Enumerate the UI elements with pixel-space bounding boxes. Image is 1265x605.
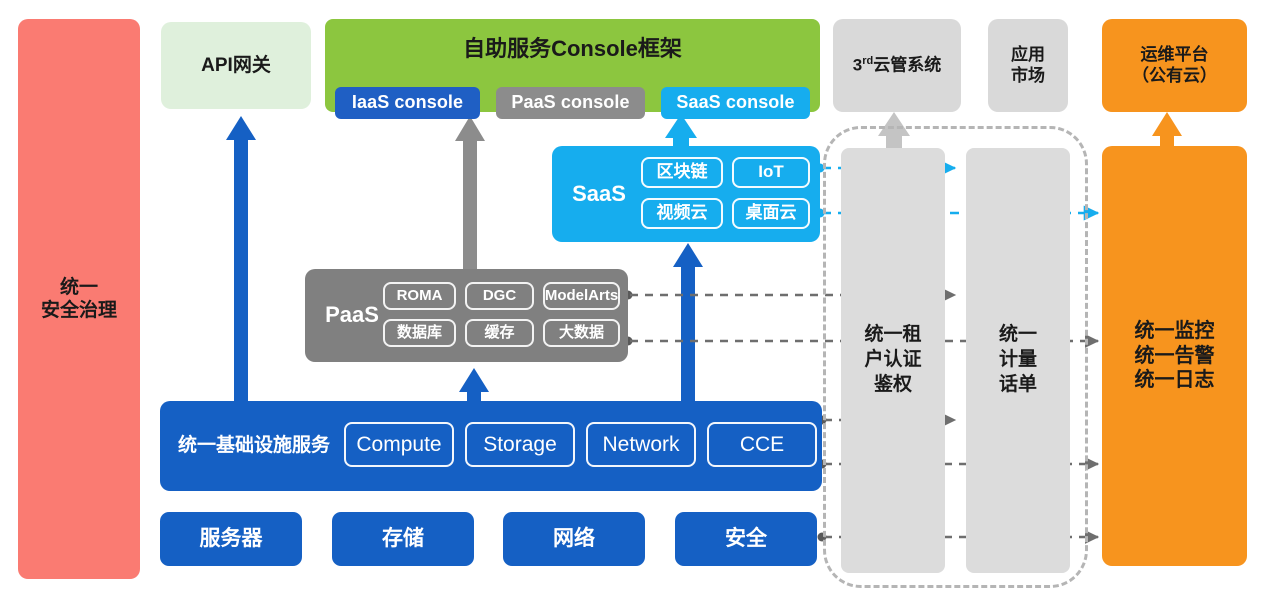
column-unified-metering-billing[interactable]: 统一 计量 话单 (966, 148, 1070, 573)
arrow-saas-to-console (665, 114, 697, 149)
saas-layer-label: SaaS (564, 146, 634, 242)
paas-item-cache[interactable]: 缓存 (465, 319, 534, 347)
paas-item-dgc[interactable]: DGC (465, 282, 534, 310)
badge-iaas-console[interactable]: IaaS console (335, 87, 480, 119)
panel-third-party-cloud-management[interactable]: 3rd云管系统 (833, 19, 961, 112)
panel-ops-platform-public-cloud[interactable]: 运维平台 （公有云） (1102, 19, 1247, 112)
infra-item-cce[interactable]: CCE (707, 422, 817, 467)
panel-api-gateway[interactable]: API网关 (161, 22, 311, 109)
console-frame-title: 自助服务Console框架 (325, 36, 820, 63)
arrow-ops-to-platform (1152, 112, 1182, 148)
panel-unified-security-governance: 统一 安全治理 (18, 19, 140, 579)
hardware-item-server[interactable]: 服务器 (160, 512, 302, 566)
layer-saas: SaaS 区块链 IoT 视频云 桌面云 (552, 146, 820, 242)
badge-paas-console[interactable]: PaaS console (496, 87, 645, 119)
panel-unified-monitoring-alarm-log: 统一监控 统一告警 统一日志 (1102, 146, 1247, 566)
paas-item-modelarts[interactable]: ModelArts (543, 282, 620, 310)
column-unified-tenant-auth[interactable]: 统一租 户认证 鉴权 (841, 148, 945, 573)
paas-item-database[interactable]: 数据库 (383, 319, 456, 347)
third-party-label: 3rd云管系统 (853, 55, 941, 76)
infra-item-network[interactable]: Network (586, 422, 696, 467)
saas-item-blockchain[interactable]: 区块链 (641, 157, 723, 188)
arrow-paas-to-console (455, 116, 485, 270)
infra-layer-label: 统一基础设施服务 (178, 401, 330, 491)
badge-saas-console[interactable]: SaaS console (661, 87, 810, 119)
saas-item-iot[interactable]: IoT (732, 157, 810, 188)
hardware-item-storage[interactable]: 存储 (332, 512, 474, 566)
hardware-item-security[interactable]: 安全 (675, 512, 817, 566)
arrow-infra-to-paas (459, 368, 489, 404)
infra-item-storage[interactable]: Storage (465, 422, 575, 467)
paas-layer-label: PaaS (317, 269, 387, 362)
layer-paas: PaaS ROMA DGC ModelArts 数据库 缓存 大数据 (305, 269, 628, 362)
architecture-diagram: 统一 安全治理 API网关 自助服务Console框架 IaaS console… (0, 0, 1265, 605)
panel-self-service-console-frame: 自助服务Console框架 IaaS console PaaS console … (325, 19, 820, 112)
saas-item-video-cloud[interactable]: 视频云 (641, 198, 723, 229)
panel-app-market[interactable]: 应用 市场 (988, 19, 1068, 112)
infra-item-compute[interactable]: Compute (344, 422, 454, 467)
arrow-infra-to-apigw (226, 116, 256, 404)
saas-item-desktop-cloud[interactable]: 桌面云 (732, 198, 810, 229)
hardware-item-network[interactable]: 网络 (503, 512, 645, 566)
arrow-infra-to-saas (673, 243, 703, 404)
paas-item-roma[interactable]: ROMA (383, 282, 456, 310)
paas-item-bigdata[interactable]: 大数据 (543, 319, 620, 347)
arrow-zone-to-third-party (878, 112, 910, 150)
layer-unified-infrastructure-service: 统一基础设施服务 Compute Storage Network CCE (160, 401, 822, 491)
